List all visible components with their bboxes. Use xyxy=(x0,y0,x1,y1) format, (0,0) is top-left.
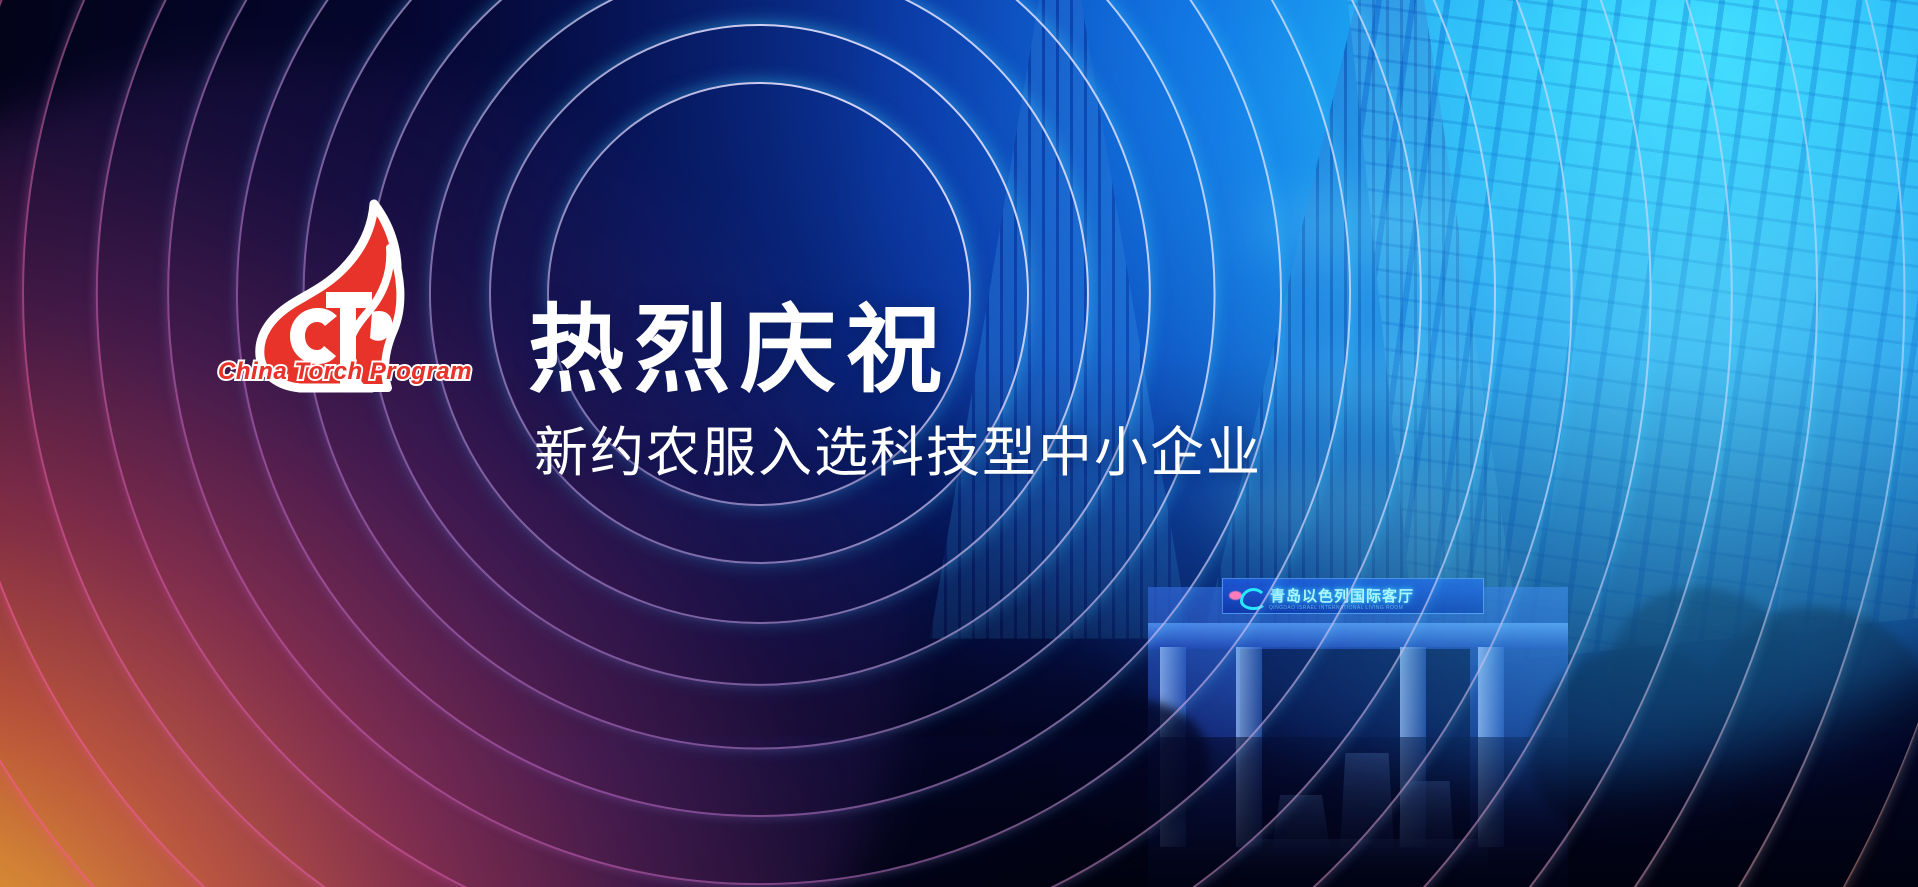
logo-block: China Torch Program China Torch Program xyxy=(222,196,422,396)
logo-caption: China Torch Program xyxy=(218,358,430,386)
headline: 热烈庆祝 xyxy=(528,300,952,402)
celebration-banner: 青岛以色列国际客厅 QINGDAO ISRAEL INTERNATIONAL L… xyxy=(0,0,1918,887)
subheadline: 新约农服入选科技型中小企业 xyxy=(534,424,1262,483)
